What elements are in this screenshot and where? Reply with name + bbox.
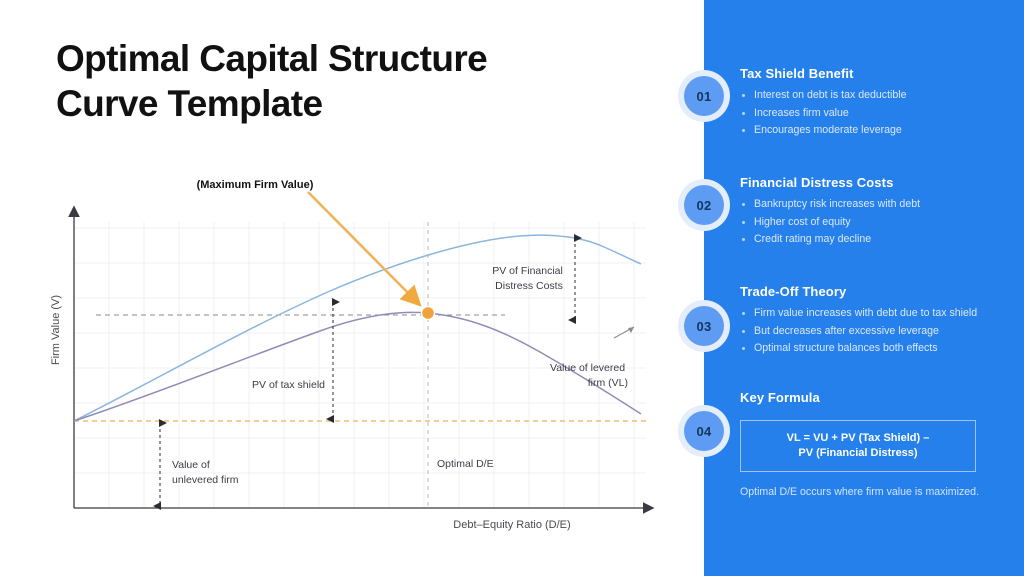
- section-number-01: 01: [684, 76, 724, 116]
- key-points-panel: 01 Tax Shield Benefit Interest on debt i…: [704, 0, 1024, 576]
- section-title-01: Tax Shield Benefit: [740, 66, 854, 81]
- pv-tax-shield-label: PV of tax shield: [252, 379, 325, 391]
- section-bullets-03: Firm value increases with debt due to ta…: [740, 305, 994, 358]
- section-title-04: Key Formula: [740, 390, 820, 405]
- list-item: Higher cost of equity: [740, 214, 994, 231]
- list-item: Credit rating may decline: [740, 231, 994, 248]
- maximum-firm-value-label: (Maximum Firm Value): [197, 179, 314, 191]
- chart-svg: Firm Value (V) Debt–Equity Ratio (D/E) (…: [0, 0, 680, 576]
- key-formula-text: VL = VU + PV (Tax Shield) – PV (Financia…: [787, 431, 930, 461]
- list-item: But decreases after excessive leverage: [740, 323, 994, 340]
- list-item: Optimal structure balances both effects: [740, 340, 994, 357]
- key-formula-line-2: PV (Financial Distress): [798, 447, 917, 459]
- section-bullets-01: Interest on debt is tax deductible Incre…: [740, 87, 994, 140]
- maximum-firm-value-point[interactable]: [422, 307, 435, 320]
- y-axis-label: Firm Value (V): [50, 295, 62, 365]
- section-title-03: Trade-Off Theory: [740, 284, 846, 299]
- key-formula-box: VL = VU + PV (Tax Shield) – PV (Financia…: [740, 420, 976, 472]
- section-badge-02: 02: [678, 179, 730, 231]
- list-item: Encourages moderate leverage: [740, 122, 994, 139]
- list-item: Firm value increases with debt due to ta…: [740, 305, 994, 322]
- section-badge-04: 04: [678, 405, 730, 457]
- list-item: Bankruptcy risk increases with debt: [740, 196, 994, 213]
- section-number-04: 04: [684, 411, 724, 451]
- section-badge-03: 03: [678, 300, 730, 352]
- optimal-de-label: Optimal D/E: [437, 458, 494, 470]
- section-badge-01: 01: [678, 70, 730, 122]
- slide: Optimal Capital Structure Curve Template: [0, 0, 1024, 576]
- maximum-firm-value-arrow-line: [308, 192, 418, 303]
- section-number-02: 02: [684, 185, 724, 225]
- section-bullets-02: Bankruptcy risk increases with debt High…: [740, 196, 994, 249]
- section-number-03: 03: [684, 306, 724, 346]
- list-item: Increases firm value: [740, 105, 994, 122]
- key-formula-note: Optimal D/E occurs where firm value is m…: [740, 484, 990, 500]
- capital-structure-chart: Firm Value (V) Debt–Equity Ratio (D/E) (…: [0, 0, 680, 576]
- x-axis-label: Debt–Equity Ratio (D/E): [453, 519, 570, 531]
- value-levered-firm-label: Value of levered firm (VL): [550, 362, 628, 389]
- section-title-02: Financial Distress Costs: [740, 175, 893, 190]
- list-item: Interest on debt is tax deductible: [740, 87, 994, 104]
- key-formula-line-1: VL = VU + PV (Tax Shield) –: [787, 432, 930, 444]
